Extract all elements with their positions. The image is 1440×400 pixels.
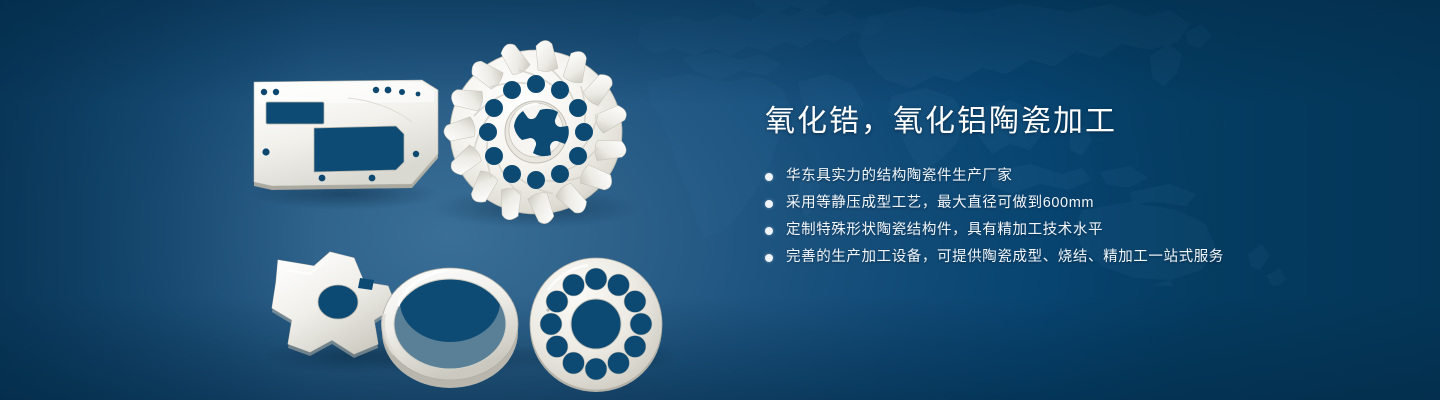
feature-list: 华东具实力的结构陶瓷件生产厂家 采用等静压成型工艺，最大直径可做到600mm 定… xyxy=(765,167,1365,268)
ceramic-perforated-disc xyxy=(530,258,662,392)
list-item: 完善的生产加工设备，可提供陶瓷成型、烧结、精加工一站式服务 xyxy=(765,248,1365,268)
page-title: 氧化锆，氧化铝陶瓷加工 xyxy=(765,104,1365,141)
list-item: 定制特殊形状陶瓷结构件，具有精加工技术水平 xyxy=(765,221,1365,241)
feature-text: 完善的生产加工设备，可提供陶瓷成型、烧结、精加工一站式服务 xyxy=(786,248,1224,268)
list-item: 华东具实力的结构陶瓷件生产厂家 xyxy=(765,167,1365,187)
ceramic-products-group xyxy=(236,36,676,384)
bullet-dot-icon xyxy=(765,200,773,208)
feature-text: 定制特殊形状陶瓷结构件，具有精加工技术水平 xyxy=(786,221,1103,241)
bullet-dot-icon xyxy=(765,173,773,181)
bullet-dot-icon xyxy=(765,227,773,235)
ceramic-cross-plate xyxy=(272,252,396,358)
list-item: 采用等静压成型工艺，最大直径可做到600mm xyxy=(765,194,1365,214)
feature-text: 华东具实力的结构陶瓷件生产厂家 xyxy=(786,167,1013,187)
hero-banner: 氧化锆，氧化铝陶瓷加工 华东具实力的结构陶瓷件生产厂家 采用等静压成型工艺，最大… xyxy=(0,0,1440,400)
ceramic-mounting-plate xyxy=(254,80,438,190)
banner-text-block: 氧化锆，氧化铝陶瓷加工 华东具实力的结构陶瓷件生产厂家 采用等静压成型工艺，最大… xyxy=(765,104,1365,275)
feature-text: 采用等静压成型工艺，最大直径可做到600mm xyxy=(786,194,1094,214)
ceramic-ring xyxy=(382,268,518,388)
bullet-dot-icon xyxy=(765,254,773,262)
